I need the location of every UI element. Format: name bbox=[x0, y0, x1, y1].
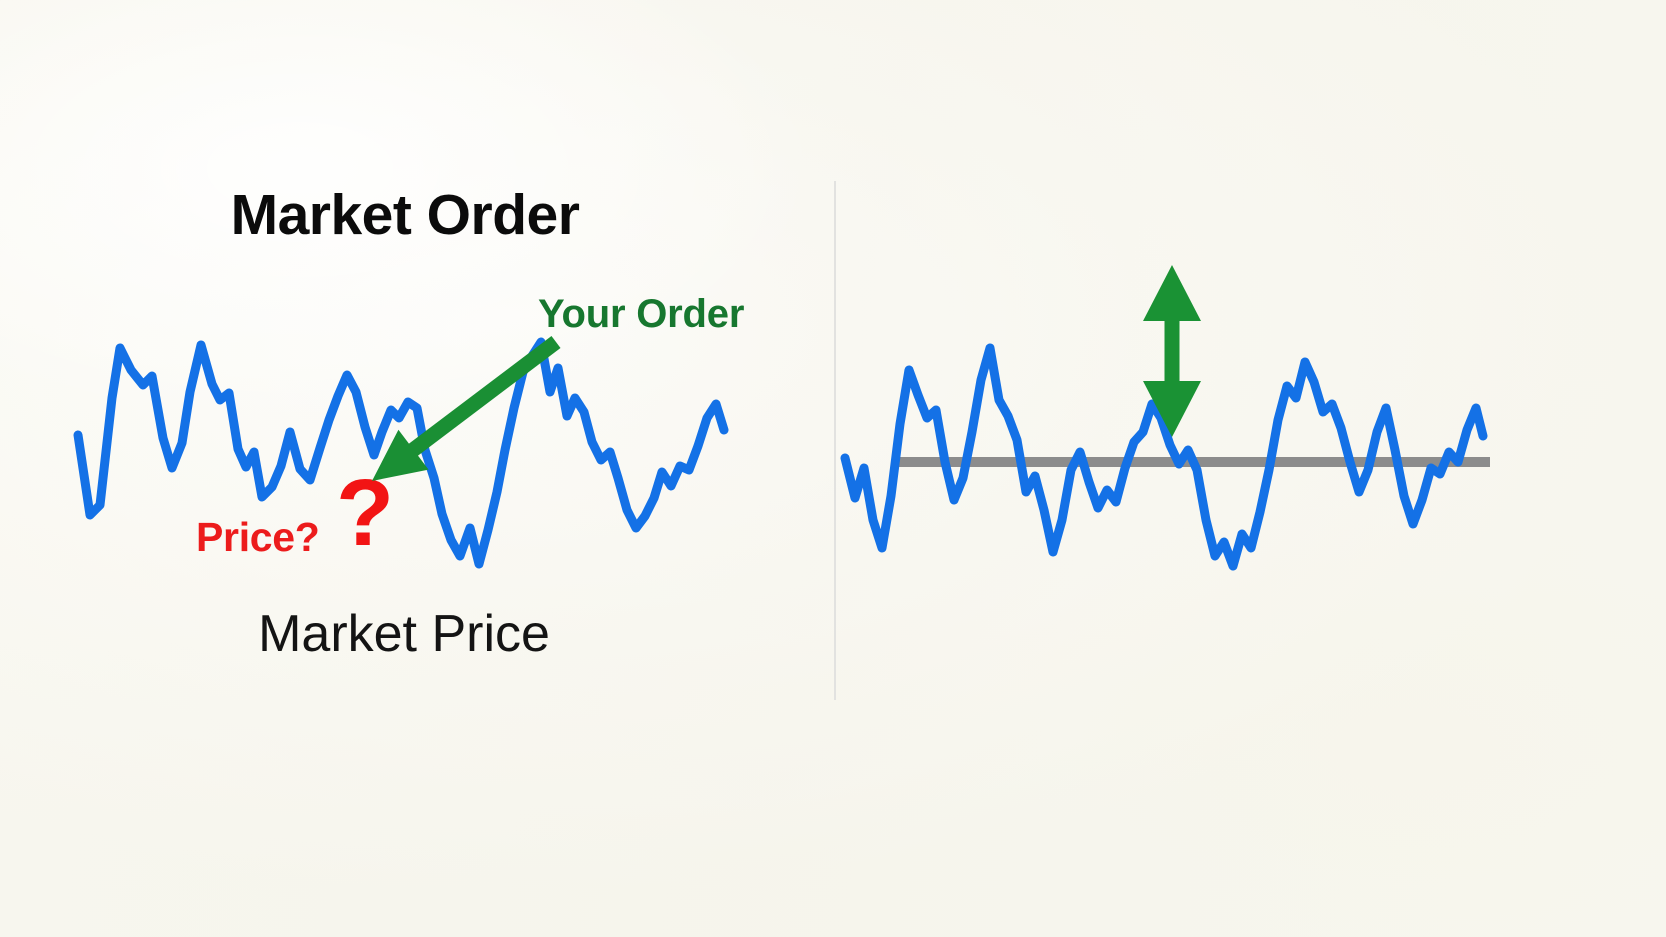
figure-canvas: Market Order Market Price Your Order Pri… bbox=[0, 0, 1666, 937]
chart-artwork bbox=[0, 0, 1666, 937]
